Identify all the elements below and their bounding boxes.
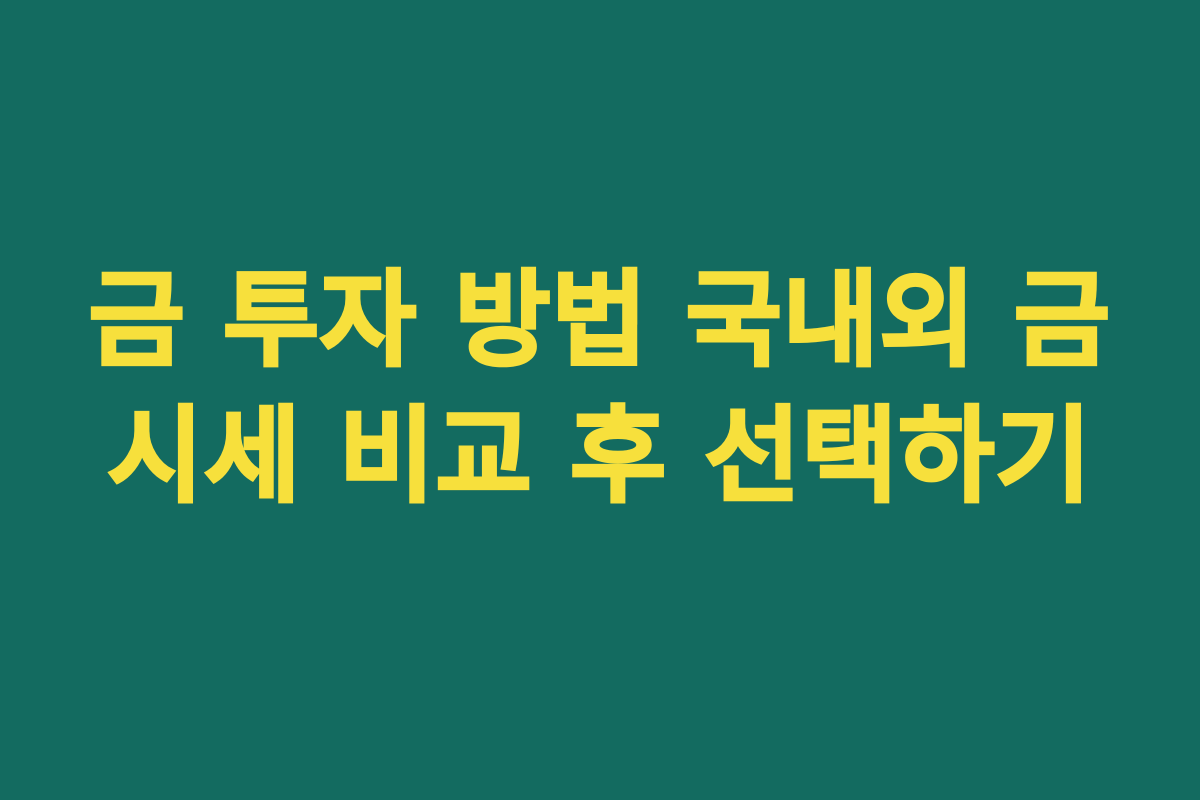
headline-line-2: 시세 비교 후 선택하기 [40, 388, 1160, 524]
headline-block: 금 투자 방법 국내외 금 시세 비교 후 선택하기 [0, 252, 1200, 524]
headline-line-1: 금 투자 방법 국내외 금 [40, 252, 1160, 388]
text-banner-card: 금 투자 방법 국내외 금 시세 비교 후 선택하기 [0, 0, 1200, 800]
